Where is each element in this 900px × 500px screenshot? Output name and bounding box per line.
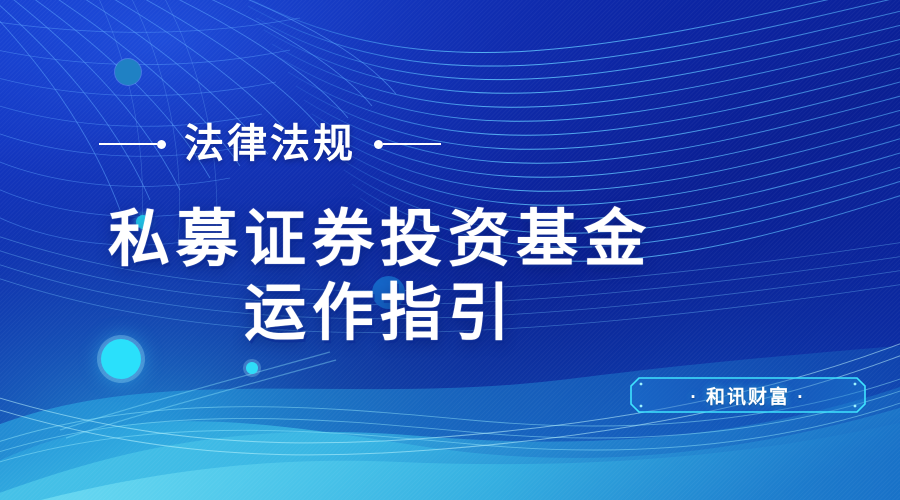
- poster-canvas: 法律法规 私募证券投资基金 运作指引 · 和讯财富 ·: [0, 0, 900, 500]
- cyan-dot-large-decoration: [101, 339, 141, 379]
- brand-badge: · 和讯财富 ·: [630, 377, 866, 413]
- kicker-label: 法律法规: [184, 124, 356, 164]
- dot-line-rule-icon: [374, 140, 441, 149]
- cyan-dot-small-upper-decoration: [136, 215, 150, 229]
- blue-dot-behind-title-decoration: [372, 276, 405, 309]
- kicker-row: 法律法规: [0, 108, 540, 180]
- line-dot-rule-icon: [99, 140, 166, 149]
- brand-badge-label: · 和讯财富 ·: [690, 382, 805, 409]
- cyan-dot-small-lower-decoration: [246, 362, 258, 374]
- teal-dot-top-decoration: [115, 59, 141, 85]
